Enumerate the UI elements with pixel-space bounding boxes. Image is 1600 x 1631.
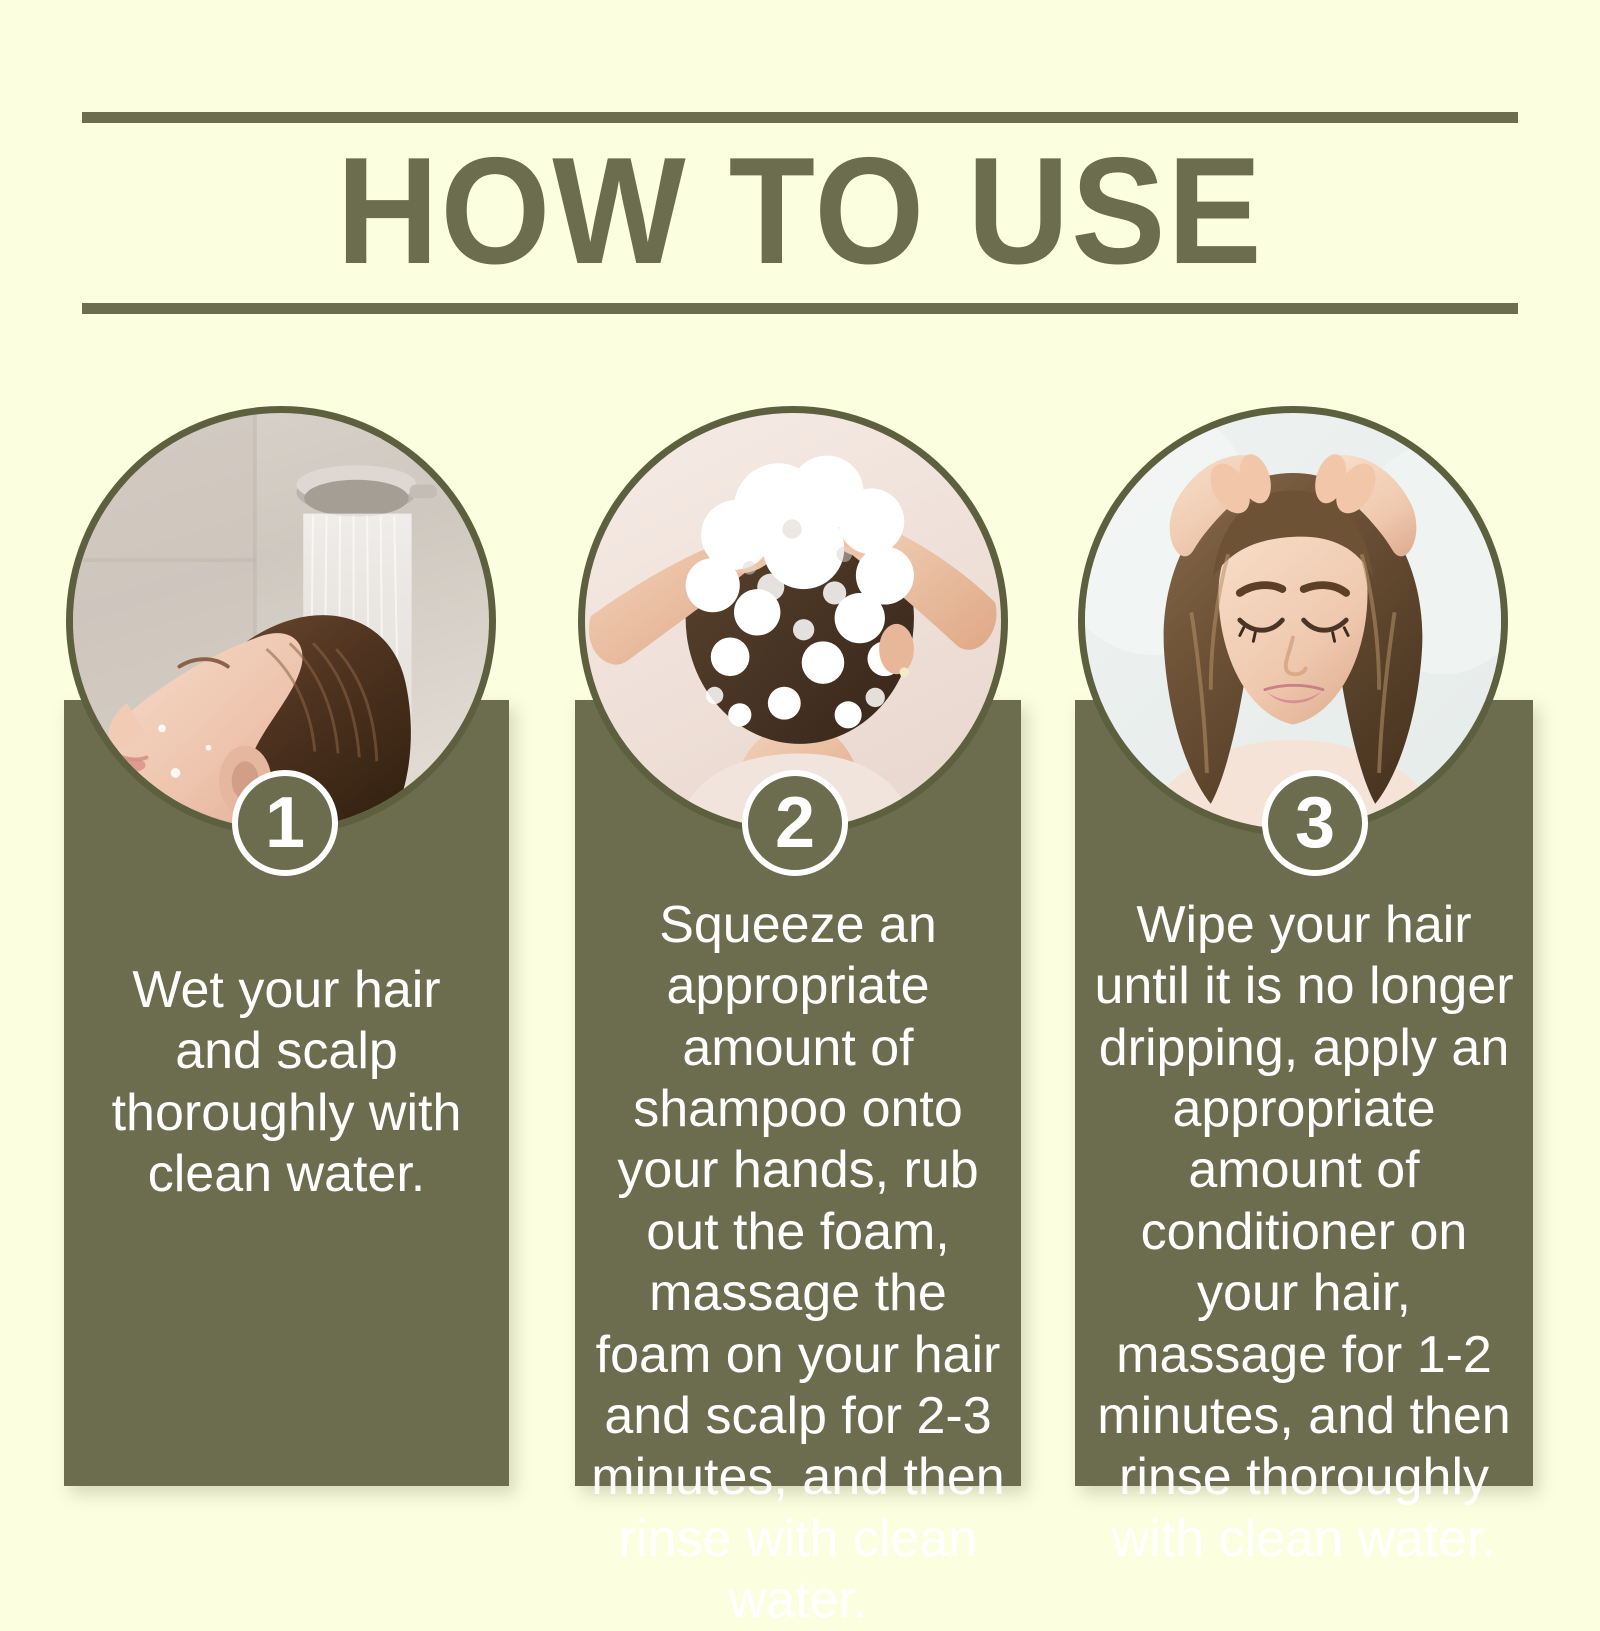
step-1-description: Wet your hair and scalp thoroughly with … — [64, 960, 509, 1205]
step-1-number-badge: 1 — [232, 770, 338, 876]
woman-lathering-shampoo-foam-photo — [585, 413, 1001, 829]
step-2-number-badge: 2 — [742, 770, 848, 876]
step-2-description: Squeeze an appropriate amount of shampoo… — [575, 895, 1021, 1631]
woman-applying-conditioner-to-hair-photo — [1085, 413, 1501, 829]
step-3-photo-frame — [1078, 406, 1508, 836]
steps-container: 1 Wet your hair and scalp thoroughly wit… — [0, 0, 1600, 1600]
step-1-number: 1 — [265, 787, 305, 859]
step-3-description: Wipe your hair until it is no longer dri… — [1075, 895, 1533, 1570]
woman-rinsing-hair-under-shower-photo — [73, 413, 489, 829]
step-3-number: 3 — [1295, 787, 1335, 859]
step-3-number-badge: 3 — [1262, 770, 1368, 876]
step-2-number: 2 — [775, 787, 815, 859]
